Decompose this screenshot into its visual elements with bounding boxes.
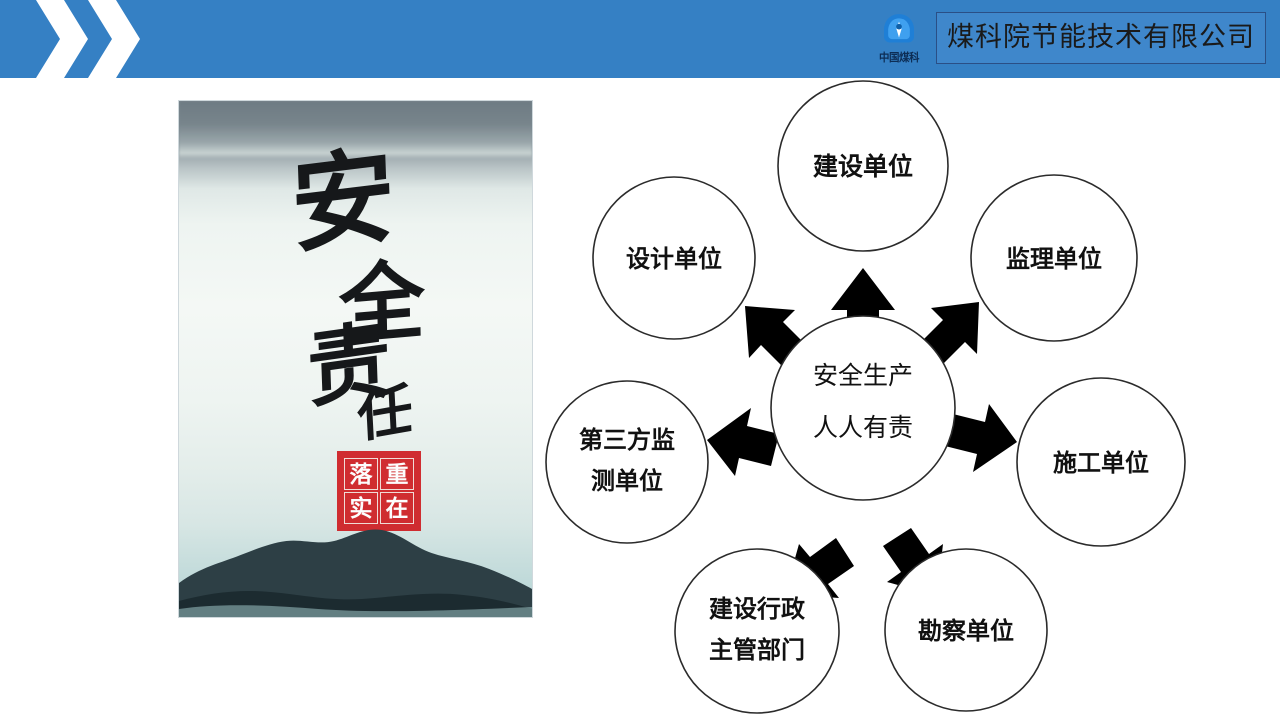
arrow-to-third-party-monitoring [707, 408, 779, 476]
node-label-construction-owner: 建设单位 [813, 152, 913, 181]
slide-root: 中国煤科 煤科院节能技术有限公司 安 全 责 任 落 重 实 在 [0, 0, 1280, 720]
calligraphy-char-an: 安 [290, 142, 397, 259]
company-logo: 中国煤科 [868, 8, 930, 68]
company-name: 煤科院节能技术有限公司 [947, 24, 1255, 51]
logo-caption: 中国煤科 [879, 49, 919, 65]
china-coal-technology-emblem-icon [879, 12, 919, 48]
node-survey-unit[interactable]: 勘察单位 [885, 549, 1047, 711]
center-label-line1: 安全生产 [813, 362, 913, 390]
double-chevron-right-icon [34, 0, 194, 78]
node-label-supervision-unit: 监理单位 [1006, 245, 1102, 273]
responsibility-radial-diagram: 安全生产 人人有责 建设单位 监理单位 施工单位 [535, 78, 1235, 720]
center-node-safety-production: 安全生产 人人有责 [771, 316, 955, 500]
node-label-admin-dept-line2: 主管部门 [709, 636, 805, 664]
node-label-design-unit: 设计单位 [626, 245, 722, 273]
center-label-line2: 人人有责 [813, 414, 913, 442]
brand-area: 中国煤科 煤科院节能技术有限公司 [868, 6, 1266, 70]
seal-cell-luo: 落 [344, 458, 378, 490]
safety-responsibility-poster: 安 全 责 任 落 重 实 在 [178, 100, 533, 618]
node-label-contractor-unit: 施工单位 [1053, 449, 1149, 477]
node-label-survey-unit: 勘察单位 [918, 617, 1014, 645]
chevron-right-icon [86, 0, 142, 78]
arrow-to-contractor-unit [945, 404, 1017, 472]
company-name-box: 煤科院节能技术有限公司 [936, 12, 1266, 64]
node-label-third-party-line1: 第三方监 [579, 426, 675, 454]
node-label-third-party-line2: 测单位 [591, 467, 663, 495]
node-third-party-monitoring[interactable]: 第三方监 测单位 [546, 381, 708, 543]
node-contractor-unit[interactable]: 施工单位 [1017, 378, 1185, 546]
slide-header: 中国煤科 煤科院节能技术有限公司 [0, 0, 1280, 78]
slide-body: 安 全 责 任 落 重 实 在 [0, 78, 1280, 720]
chevron-right-icon [34, 0, 90, 78]
node-design-unit[interactable]: 设计单位 [593, 177, 755, 339]
node-construction-admin-dept[interactable]: 建设行政 主管部门 [675, 549, 839, 713]
calligraphy-char-ren: 任 [356, 380, 414, 446]
node-construction-owner[interactable]: 建设单位 [778, 81, 948, 251]
seal-cell-zhong: 重 [380, 458, 414, 490]
node-label-admin-dept-line1: 建设行政 [709, 595, 805, 623]
node-supervision-unit[interactable]: 监理单位 [971, 175, 1137, 341]
poster-mountain-silhouette [179, 497, 532, 617]
